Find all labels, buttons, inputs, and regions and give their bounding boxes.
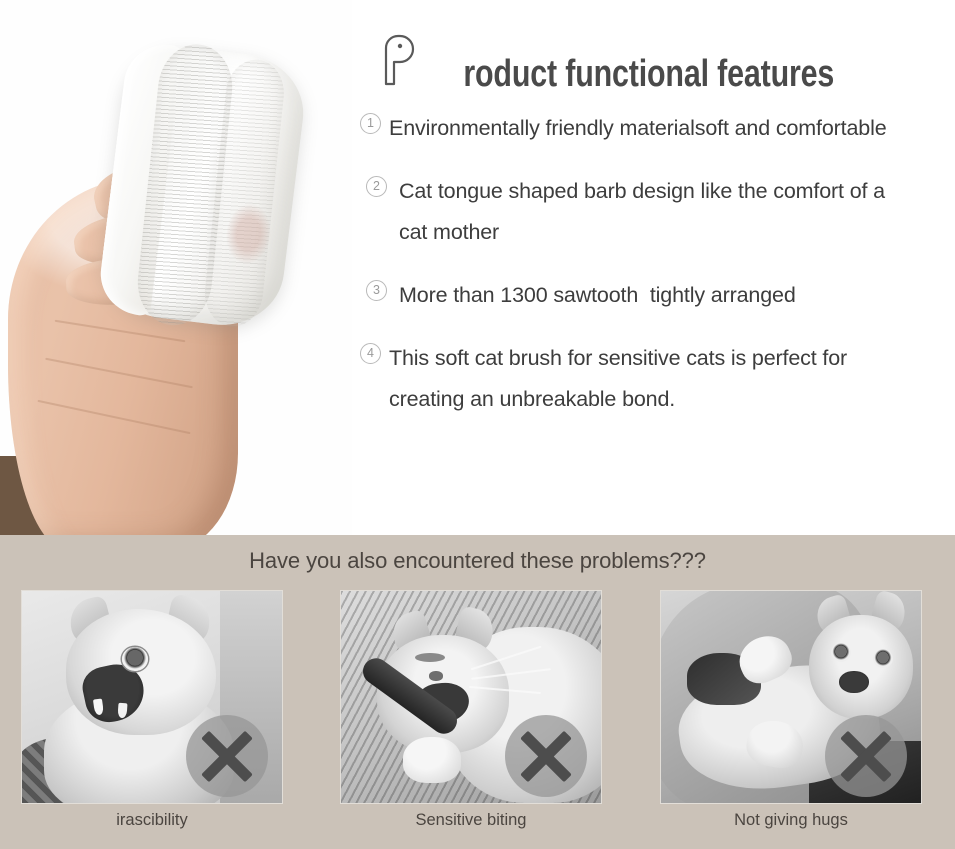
feature-item: 1 Environmentally friendly materialsoft … xyxy=(360,108,950,149)
product-photo-hand-holding-brush xyxy=(0,0,352,535)
feature-list: 1 Environmentally friendly materialsoft … xyxy=(360,108,950,442)
problem-photo-irascibility xyxy=(22,591,282,803)
feature-number-2: 2 xyxy=(366,176,387,197)
feature-number-3: 3 xyxy=(366,280,387,301)
problem-photo-row xyxy=(0,591,955,803)
cat-paw xyxy=(403,737,461,783)
cat-eye xyxy=(122,647,148,671)
feature-number-4: 4 xyxy=(360,343,381,364)
cat-open-mouth xyxy=(839,671,869,693)
problems-heading: Have you also encountered these problems… xyxy=(0,548,955,574)
features-text-column: roduct functional features 1 Environment… xyxy=(352,0,955,535)
red-x-badge-icon xyxy=(186,715,268,797)
cat-eye xyxy=(831,643,851,662)
photo-caption-3: Not giving hugs xyxy=(661,811,921,830)
feature-text-4: This soft cat brush for sensitive cats i… xyxy=(389,338,909,420)
problems-section: Have you also encountered these problems… xyxy=(0,535,955,849)
features-title: roduct functional features xyxy=(382,34,881,93)
red-x-badge-icon xyxy=(825,715,907,797)
cat-nose xyxy=(429,671,443,681)
cat-eye-closed xyxy=(415,653,445,662)
cat-brush-product xyxy=(96,40,310,332)
features-section: roduct functional features 1 Environment… xyxy=(0,0,955,535)
problem-photo-not-giving-hugs xyxy=(661,591,921,803)
problem-photo-sensitive-biting xyxy=(341,591,601,803)
red-x-badge-icon xyxy=(505,715,587,797)
drop-cap-p-icon xyxy=(382,34,416,86)
cat-head xyxy=(809,615,913,719)
features-title-text: roduct functional features xyxy=(463,55,834,93)
feature-item: 4 This soft cat brush for sensitive cats… xyxy=(360,338,950,420)
feature-text-2: Cat tongue shaped barb design like the c… xyxy=(395,171,915,253)
photo-caption-2: Sensitive biting xyxy=(341,811,601,830)
feature-number-1: 1 xyxy=(360,113,381,134)
product-feature-page: roduct functional features 1 Environment… xyxy=(0,0,955,849)
photo-caption-1: irascibility xyxy=(22,811,282,830)
cat-eye xyxy=(873,649,893,668)
feature-text-3: More than 1300 sawtooth tightly arranged xyxy=(395,275,796,316)
feature-item: 2 Cat tongue shaped barb design like the… xyxy=(360,171,950,253)
feature-text-1: Environmentally friendly materialsoft an… xyxy=(389,108,887,149)
feature-item: 3 More than 1300 sawtooth tightly arrang… xyxy=(360,275,950,316)
